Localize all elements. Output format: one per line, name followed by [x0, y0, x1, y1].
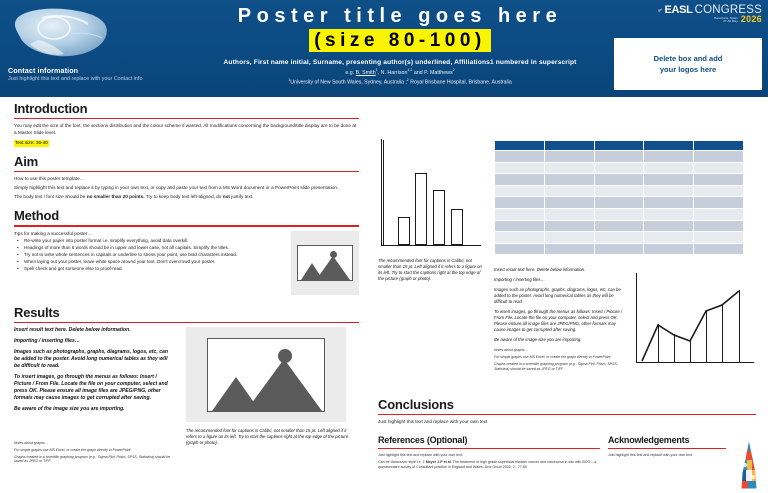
right-results-notes-3[interactable]: Graphs created in a scientific graphing … [494, 362, 624, 372]
results-text-block: Insert result text here. Delete below in… [14, 327, 174, 464]
table-row[interactable] [495, 243, 744, 255]
list-item[interactable]: Spell check and get someone else to proo… [24, 266, 276, 272]
table-header-cell [594, 141, 644, 151]
table-cell [694, 232, 744, 244]
list-item[interactable]: Re-write your paper into poster format i… [24, 238, 276, 244]
image-placeholder-icon [207, 338, 325, 412]
image-placeholder-icon [297, 245, 353, 281]
table-cell [644, 151, 694, 163]
table-row[interactable] [495, 197, 744, 209]
authors-example-line: e.g. B. Smith1, N. Harrison1,2 and P. Ma… [150, 68, 650, 76]
table-cell [594, 232, 644, 244]
method-image-placeholder[interactable] [291, 231, 359, 295]
poster-title-block: Poster title goes here (size 80-100) [150, 4, 650, 52]
table-cell [544, 232, 594, 244]
results-notes-3[interactable]: Graphs created in a scientific graphing … [14, 455, 174, 465]
authors-eg-end: and P. Matthews [412, 70, 452, 76]
list-item[interactable]: Headings of more than 6 words should be … [24, 245, 276, 251]
affiliation-text-1: University of New South Wales, Sydney, A… [290, 80, 406, 86]
table-cell [544, 174, 594, 186]
bar-3 [433, 190, 445, 245]
table-row[interactable] [495, 151, 744, 163]
table-row[interactable] [495, 185, 744, 197]
acknowledgements-paragraph[interactable]: Just highlight this text and replace wit… [608, 453, 696, 458]
table-cell [694, 208, 744, 220]
bar-chart-placeholder[interactable] [381, 139, 481, 246]
table-cell [544, 208, 594, 220]
easl-congress-logo: EASL CONGRESS Barcelona, Spain 27-30 May… [658, 5, 762, 31]
table-cell [495, 185, 545, 197]
right-column: Insert result text here. Delete below in… [494, 101, 756, 374]
aim-p3-b: Try to keep body text left-aligned, do [145, 194, 223, 199]
line-chart-series [636, 273, 754, 363]
table-row[interactable] [495, 232, 744, 244]
authors-eg-prefix: e.g. [345, 70, 355, 76]
results-image-placeholder[interactable] [186, 327, 346, 422]
section-heading-method: Method [14, 208, 359, 223]
authors-size-note-row: Size 30-36, smaller if long text/many au… [150, 88, 650, 98]
table-cell [644, 243, 694, 255]
bar-chart-axis-tick [383, 140, 384, 245]
poster-title-size-note[interactable]: (size 80-100) [309, 29, 491, 52]
easl-logo-year: 2026 [741, 15, 762, 24]
right-results-paragraph-4[interactable]: To insert images, go through the menus a… [494, 309, 624, 333]
table-cell [594, 185, 644, 197]
image-frame [207, 338, 325, 412]
authors-block: Authors, First name initial, Surname, pr… [150, 59, 650, 97]
table-cell [694, 220, 744, 232]
logo-placeholder-box[interactable]: Delete box and add your logos here [614, 38, 762, 90]
bar-4 [451, 209, 463, 245]
table-cell [644, 174, 694, 186]
logo-placeholder-text: Delete box and add your logos here [654, 53, 723, 75]
right-results-paragraph-5[interactable]: Be aware of the image size you are impor… [494, 337, 624, 343]
table-cell [594, 162, 644, 174]
contact-information-block: Contact information Just highlight this … [8, 66, 148, 83]
authors-instruction-line[interactable]: Authors, First name initial, Surname, pr… [150, 59, 650, 66]
table-cell [594, 174, 644, 186]
table-cell [495, 243, 545, 255]
table-cell [594, 243, 644, 255]
table-cell [644, 232, 694, 244]
bar-2 [415, 173, 427, 245]
references-paragraph-2[interactable]: Can be Vancouver style i.e. 1.Meyer J-P … [378, 460, 600, 470]
aim-p3-a: The body text / font size should be [14, 194, 87, 199]
image-mountain-large [246, 359, 322, 411]
results-notes-2[interactable]: For simple graphs use MS Excel, or creat… [14, 448, 174, 453]
table-row[interactable] [495, 162, 744, 174]
affiliation-sup-3: 2 [453, 68, 455, 72]
bar-chart-x-axis [381, 245, 481, 246]
conclusions-section: Conclusions Just highlight this text and… [378, 397, 756, 430]
method-text-block: Tips for making a successful poster… Re-… [14, 231, 276, 272]
table-cell [644, 197, 694, 209]
results-paragraph-4[interactable]: To insert images, go through the menus a… [14, 374, 174, 402]
easl-logo-place-dates: Barcelona, Spain 27-30 May [714, 17, 738, 24]
left-column: Introduction You may edit the size of th… [14, 101, 359, 466]
right-results-notes-1[interactable]: Notes about graphs… [494, 348, 624, 353]
middle-chart-caption[interactable]: The recommended font for captions is Cal… [378, 258, 482, 282]
table-cell [644, 162, 694, 174]
section-heading-results: Results [14, 305, 359, 320]
list-item[interactable]: When laying out your poster, leave white… [24, 259, 276, 265]
section-heading-aim: Aim [14, 154, 359, 169]
table-cell [495, 174, 545, 186]
method-intro[interactable]: Tips for making a successful poster… [14, 231, 276, 237]
aim-p3-c: justify text. [230, 194, 253, 199]
results-paragraph-1[interactable]: Insert result text here. Delete below in… [14, 327, 174, 334]
middle-column: The recommended font for captions is Cal… [378, 101, 488, 282]
table-cell [694, 151, 744, 163]
results-paragraph-3[interactable]: Images such as photographs, graphs, diag… [14, 349, 174, 370]
right-results-paragraph-2[interactable]: Importing / inserting files… [494, 277, 624, 283]
table-cell [544, 220, 594, 232]
section-heading-conclusions: Conclusions [378, 397, 756, 412]
references-section: References (Optional) Just highlight thi… [378, 435, 600, 471]
table-cell [694, 174, 744, 186]
section-divider-references [378, 448, 600, 449]
liver-logo-icon [8, 4, 116, 62]
right-results-notes-2[interactable]: For simple graphs use MS Excel, or creat… [494, 355, 624, 360]
aim-paragraph-1[interactable]: How to use this poster template… [14, 176, 359, 182]
table-cell [594, 208, 644, 220]
table-cell [495, 220, 545, 232]
poster-canvas: Contact information Just highlight this … [0, 0, 768, 493]
easl-emblem-icon [658, 5, 662, 16]
table-cell [694, 243, 744, 255]
results-notes-1[interactable]: Notes about graphs… [14, 441, 174, 446]
table-cell [495, 232, 545, 244]
method-content: Tips for making a successful poster… Re-… [14, 231, 359, 301]
table-header-cell [544, 141, 594, 151]
poster-title-line1[interactable]: Poster title goes here [150, 4, 650, 28]
affiliations-line: 1University of New South Wales, Sydney, … [150, 78, 650, 86]
easl-wordmark: EASL [664, 5, 692, 16]
table-cell [544, 185, 594, 197]
sagrada-familia-tower-icon [736, 439, 762, 491]
table-cell [544, 151, 594, 163]
results-spacer [14, 417, 174, 441]
easl-logo-subrow: Barcelona, Spain 27-30 May 2026 [658, 15, 762, 24]
aim-paragraph-3[interactable]: The body text / font size should be no s… [14, 194, 359, 200]
section-divider-conclusions [378, 414, 756, 415]
section-heading-references: References (Optional) [378, 435, 600, 446]
bar-1 [398, 217, 410, 245]
table-cell [594, 151, 644, 163]
right-results-content: Insert result text here. Delete below in… [494, 267, 756, 371]
results-image-caption[interactable]: The recommended font for captions is Cal… [186, 428, 356, 446]
table-row[interactable] [495, 220, 744, 232]
introduction-highlight-row: Text size: 36-40 [14, 140, 359, 146]
line-chart-placeholder[interactable] [636, 273, 754, 363]
table-cell [594, 220, 644, 232]
results-paragraph-5[interactable]: Be aware of the image size you are impor… [14, 406, 174, 413]
table-row[interactable] [495, 174, 744, 186]
table-cell [544, 162, 594, 174]
table-header-row [495, 141, 744, 151]
right-results-paragraph-1[interactable]: Insert result text here. Delete below in… [494, 267, 624, 273]
aim-p3-bold-1: no smaller than 20 points. [87, 194, 145, 199]
contact-information-title: Contact information [8, 66, 148, 75]
section-divider-introduction [14, 118, 359, 119]
table-cell [644, 208, 694, 220]
affiliation-text-2: Royal Brisbane Hospital, Brisbane, Austr… [409, 80, 512, 86]
table-cell [594, 197, 644, 209]
table-cell [644, 220, 694, 232]
poster-header: Contact information Just highlight this … [0, 0, 768, 97]
right-results-paragraph-3[interactable]: Images such as photographs, graphs, diag… [494, 287, 624, 305]
authors-eg-mid: , N. Harrison [378, 70, 408, 76]
table-header-cell [495, 141, 545, 151]
table-cell [495, 162, 545, 174]
list-item[interactable]: Try not to write whole sentences in capi… [24, 252, 276, 258]
table-cell [694, 185, 744, 197]
section-heading-introduction: Introduction [14, 101, 359, 116]
logo-placeholder-line2: your logos here [660, 65, 716, 74]
table-cell [694, 197, 744, 209]
section-divider-aim [14, 171, 359, 172]
table-cell [544, 197, 594, 209]
table-row[interactable] [495, 208, 744, 220]
references-citation-author: Meyer J-P et al [426, 460, 451, 464]
table-cell [495, 151, 545, 163]
table-cell [644, 185, 694, 197]
results-table-placeholder[interactable] [494, 140, 744, 255]
aim-paragraph-2[interactable]: Simply highlight this text and replace i… [14, 185, 359, 191]
section-divider-method [14, 225, 359, 226]
table-cell [694, 162, 744, 174]
poster-body: Introduction You may edit the size of th… [0, 97, 768, 493]
table-header-cell [694, 141, 744, 151]
aim-p3-bold-2: not [223, 194, 230, 199]
section-divider-acknowledgements [608, 448, 726, 449]
section-divider-results [14, 322, 359, 323]
references-paragraph-1[interactable]: Just highlight this text and replace wit… [378, 453, 600, 458]
results-content: Insert result text here. Delete below in… [14, 327, 359, 464]
introduction-paragraph[interactable]: You may edit the size of the font, the s… [14, 123, 359, 136]
image-frame [297, 245, 353, 281]
table-cell [544, 243, 594, 255]
results-paragraph-2[interactable]: Importing / inserting files… [14, 338, 174, 345]
references-p2-a: Can be Vancouver style i.e. 1. [378, 460, 426, 464]
text-size-highlight[interactable]: Text size: 36-40 [14, 140, 49, 146]
image-mountain-large [316, 256, 350, 280]
easl-logo-dates: 27-30 May [714, 20, 738, 24]
method-bullet-list: Re-write your paper into poster format i… [14, 238, 276, 272]
presenting-author-name: B. Smith [356, 70, 376, 76]
conclusions-paragraph[interactable]: Just highlight this text and replace wit… [378, 419, 756, 425]
table-cell [495, 197, 545, 209]
contact-information-placeholder[interactable]: Just highlight this text and replace wit… [8, 76, 148, 83]
table-cell [495, 208, 545, 220]
table-header-cell [644, 141, 694, 151]
right-results-text-block: Insert result text here. Delete below in… [494, 267, 624, 371]
logo-placeholder-line1: Delete box and add [654, 54, 723, 63]
